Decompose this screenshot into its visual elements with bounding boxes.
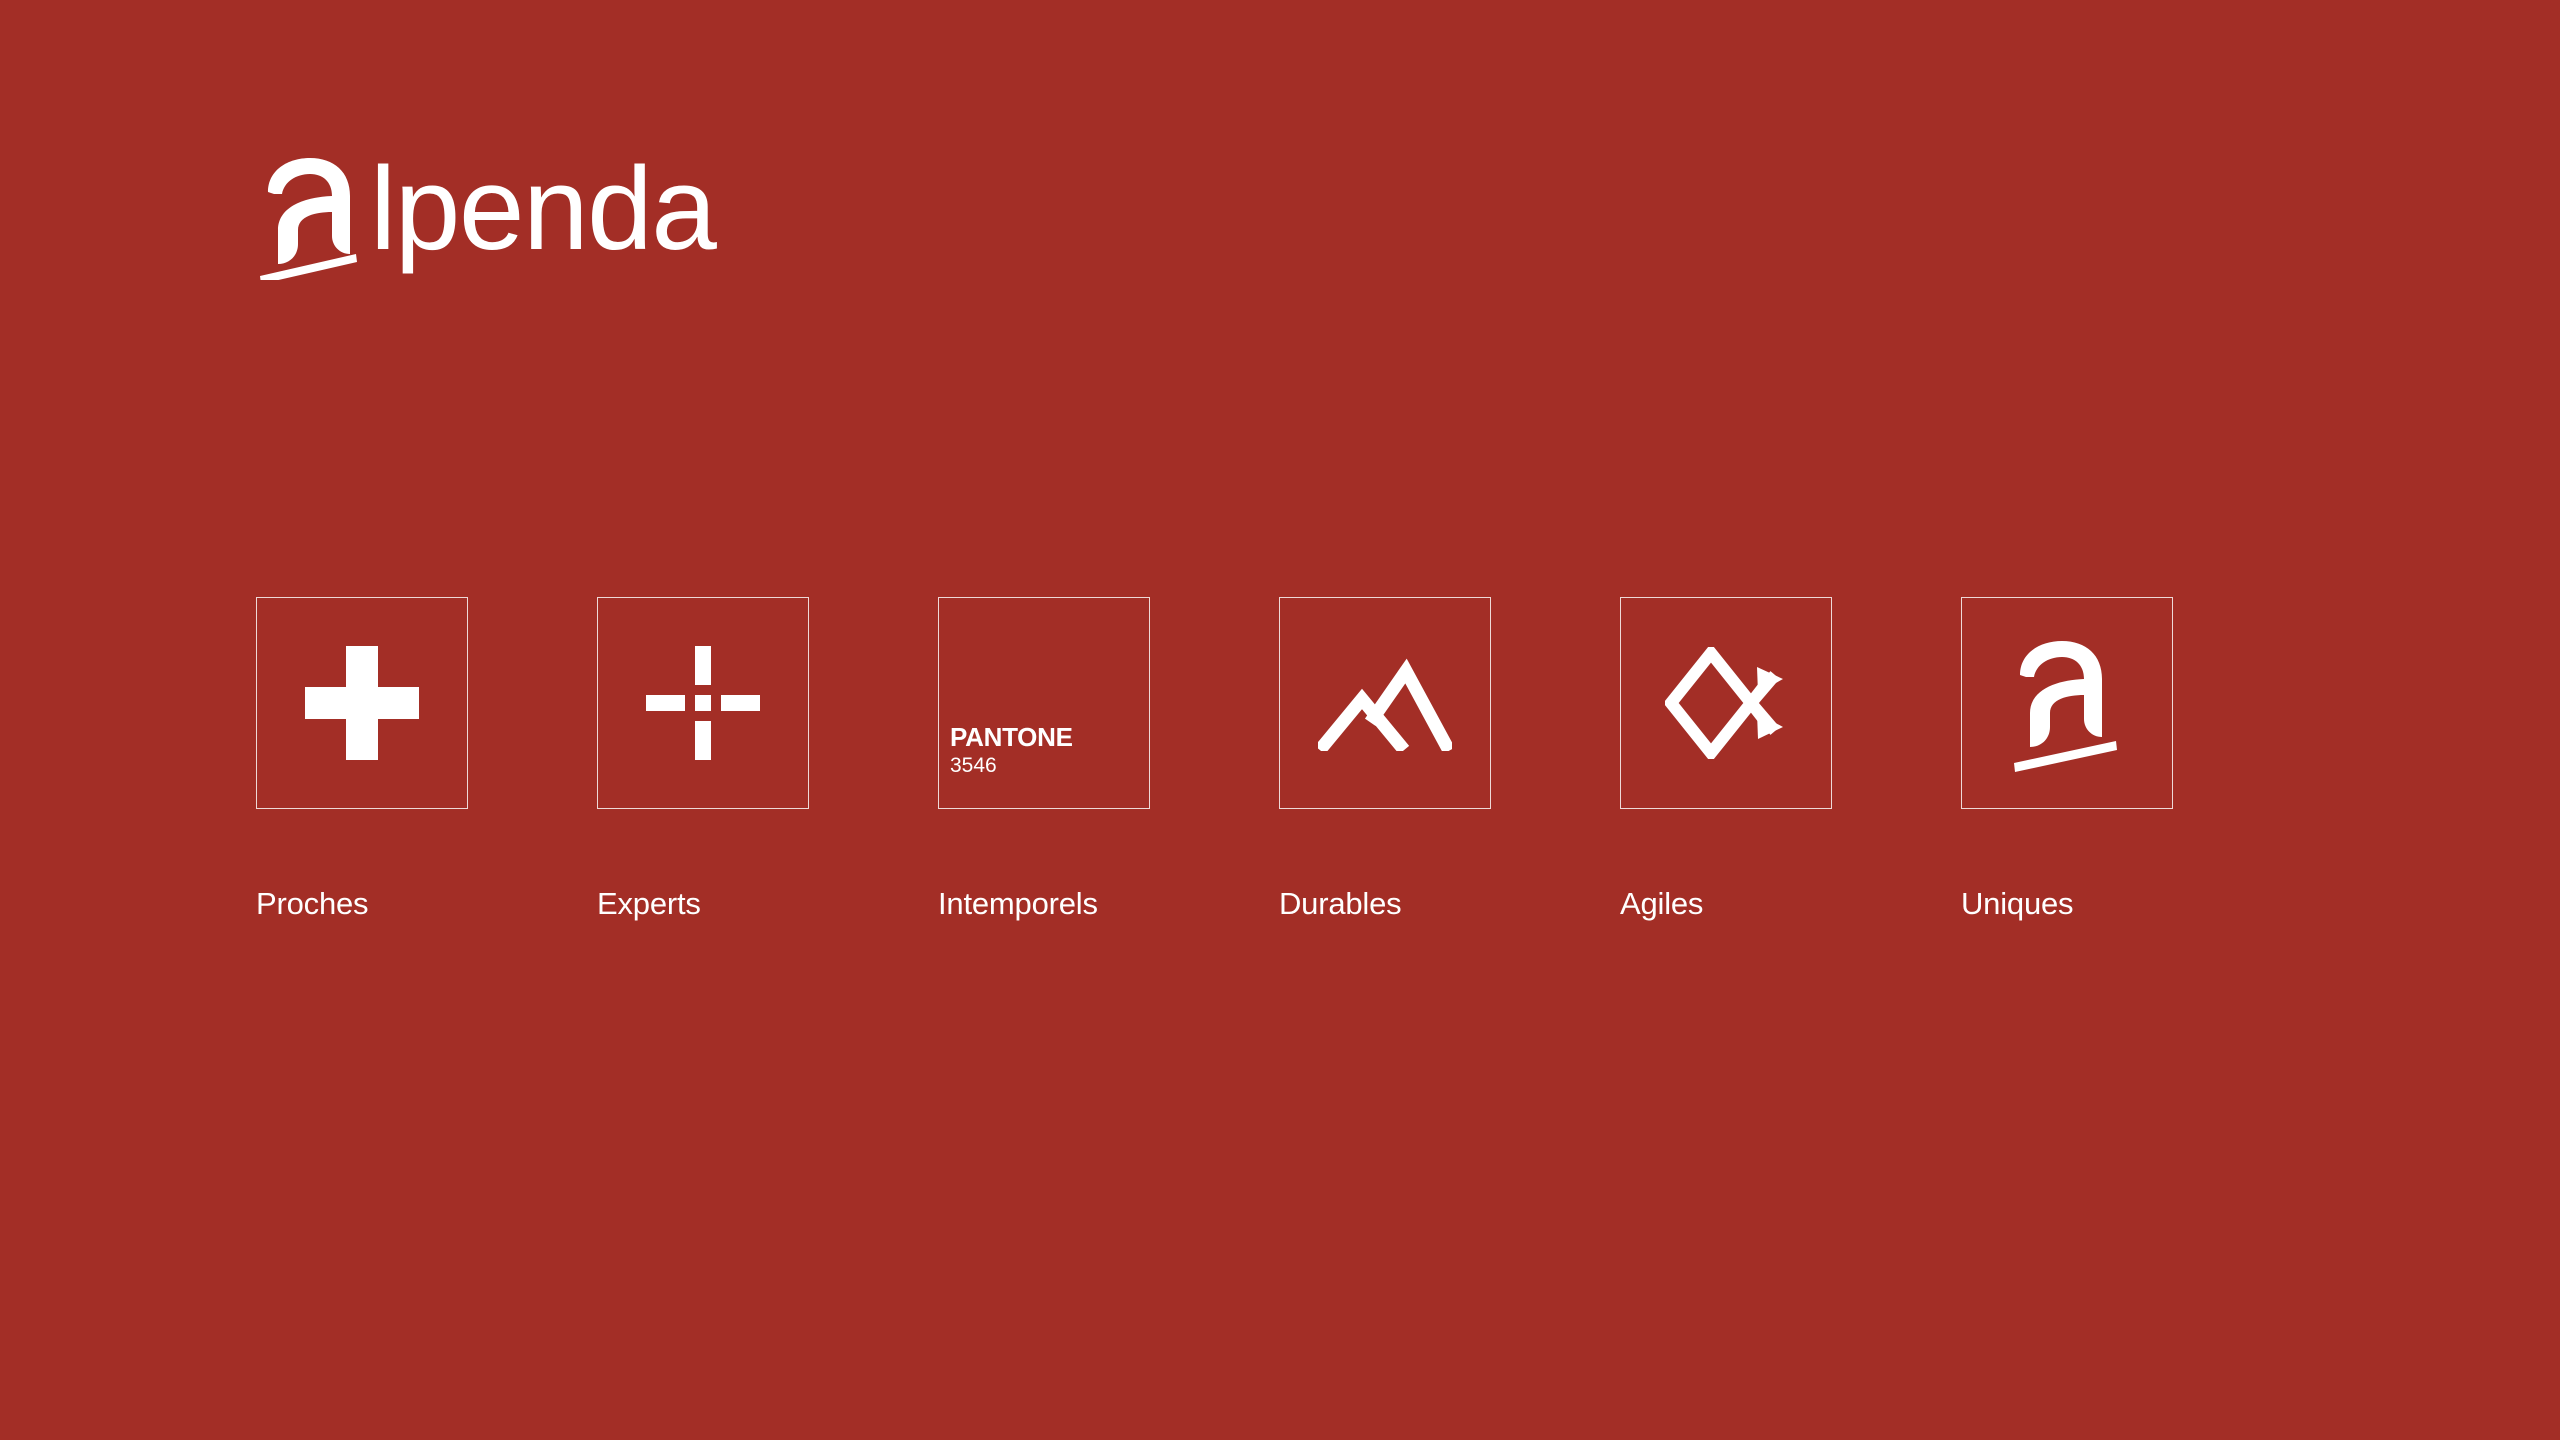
- pantone-code: 3546: [950, 754, 1073, 778]
- brand-wordmark: lpenda: [370, 150, 715, 268]
- value-icon-box: [1961, 597, 2173, 809]
- diamond-arrows-icon: [1665, 647, 1787, 759]
- value-icon-box: [1620, 597, 1832, 809]
- value-item-experts[interactable]: Experts: [597, 597, 809, 919]
- swiss-cross-icon: [305, 646, 419, 760]
- value-label: Intemporels: [938, 888, 1150, 919]
- value-label: Proches: [256, 888, 468, 919]
- pantone-name: PANTONE: [950, 724, 1073, 751]
- value-label: Durables: [1279, 888, 1491, 919]
- value-item-uniques[interactable]: Uniques: [1961, 597, 2173, 919]
- value-icon-box: [1279, 597, 1491, 809]
- value-item-proches[interactable]: Proches: [256, 597, 468, 919]
- value-label: Agiles: [1620, 888, 1832, 919]
- brand-values-row: Proches Experts PANTONE: [256, 597, 2173, 919]
- pantone-caption: PANTONE 3546: [950, 724, 1073, 778]
- alpenda-a-mark-icon: [2004, 633, 2130, 773]
- alpenda-a-mark-icon: [256, 150, 374, 280]
- brand-logo: lpenda: [256, 150, 715, 280]
- value-label: Experts: [597, 888, 809, 919]
- registration-crosshair-icon: [646, 646, 760, 760]
- value-icon-box: [256, 597, 468, 809]
- value-item-durables[interactable]: Durables: [1279, 597, 1491, 919]
- value-item-agiles[interactable]: Agiles: [1620, 597, 1832, 919]
- value-label: Uniques: [1961, 888, 2173, 919]
- value-icon-box: [597, 597, 809, 809]
- pantone-swatch-icon: PANTONE 3546: [938, 597, 1150, 809]
- mountain-peaks-icon: [1318, 655, 1452, 751]
- value-item-intemporels[interactable]: PANTONE 3546 Intemporels: [938, 597, 1150, 919]
